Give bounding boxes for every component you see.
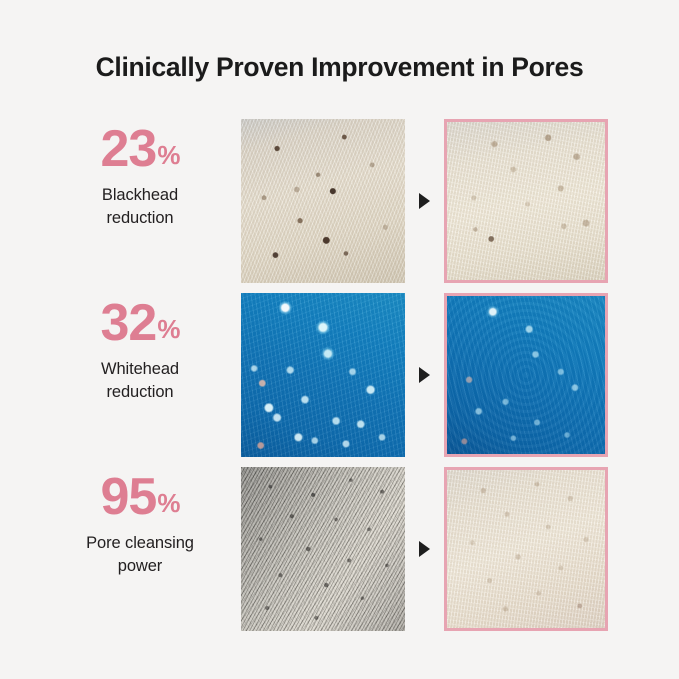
stat-label-line2: power: [42, 555, 238, 578]
before-image-texture: [241, 119, 405, 283]
after-image-whitehead: [444, 293, 608, 457]
pores-infographic: Clinically Proven Improvement in Pores 2…: [0, 0, 679, 679]
after-image-blackhead: [444, 119, 608, 283]
stat-block-whitehead: 32% Whitehead reduction: [42, 299, 238, 405]
stat-row-whitehead: 32% Whitehead reduction: [0, 293, 679, 457]
after-image-pore-cleansing: [444, 467, 608, 631]
percent-symbol: %: [157, 314, 180, 344]
triangle-right-arrow-icon: [419, 541, 430, 557]
stat-block-blackhead: 23% Blackhead reduction: [42, 125, 238, 231]
stat-row-pore-cleansing: 95% Pore cleansing power: [0, 467, 679, 631]
percent-symbol: %: [157, 488, 180, 518]
stat-label-line2: reduction: [42, 381, 238, 404]
stat-row-blackhead: 23% Blackhead reduction: [0, 119, 679, 283]
stat-label-line2: reduction: [42, 207, 238, 230]
after-image-texture: [447, 122, 605, 280]
triangle-right-arrow-icon: [419, 193, 430, 209]
stat-label-line1: Whitehead: [42, 358, 238, 381]
stat-number-pore-cleansing: 95%: [42, 473, 238, 523]
before-image-pore-cleansing: [241, 467, 405, 631]
stat-label-blackhead: Blackhead reduction: [42, 184, 238, 231]
after-image-texture: [447, 470, 605, 628]
stat-label-line1: Pore cleansing: [42, 532, 238, 555]
triangle-right-arrow-icon: [419, 367, 430, 383]
percent-symbol: %: [157, 140, 180, 170]
page-title: Clinically Proven Improvement in Pores: [0, 52, 679, 83]
before-image-texture: [241, 467, 405, 631]
stat-number-whitehead: 32%: [42, 299, 238, 349]
before-image-blackhead: [241, 119, 405, 283]
stat-label-line1: Blackhead: [42, 184, 238, 207]
stat-label-whitehead: Whitehead reduction: [42, 358, 238, 405]
stat-value: 32: [101, 294, 157, 352]
stat-number-blackhead: 23%: [42, 125, 238, 175]
before-image-texture: [241, 293, 405, 457]
before-image-whitehead: [241, 293, 405, 457]
stat-value: 23: [101, 120, 157, 178]
stat-value: 95: [101, 468, 157, 526]
after-image-texture: [447, 296, 605, 454]
stat-block-pore-cleansing: 95% Pore cleansing power: [42, 473, 238, 579]
stat-label-pore-cleansing: Pore cleansing power: [42, 532, 238, 579]
